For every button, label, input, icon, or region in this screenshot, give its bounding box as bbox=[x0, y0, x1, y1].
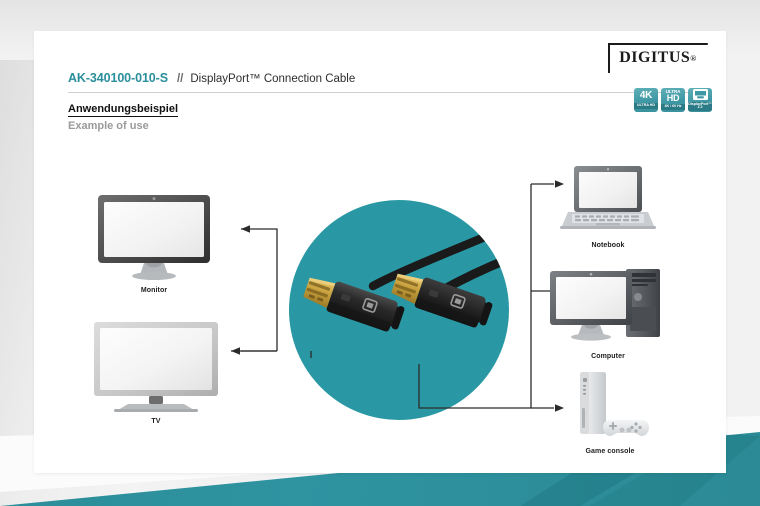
arrow-to-monitor bbox=[241, 229, 277, 351]
device-game-console: Game console bbox=[562, 370, 658, 455]
content-card: DIGITUS® AK-340100-010-S//DisplayPort™ C… bbox=[34, 31, 726, 473]
registered-mark-icon: ® bbox=[690, 54, 696, 63]
section-title-de: Anwendungsbeispiel bbox=[68, 103, 178, 117]
ultra-hd-badge-line2: HD bbox=[667, 94, 679, 103]
displayport-badge-line2: DisplayPort™ 1.2 bbox=[688, 102, 712, 111]
4k-badge-line1: 4K bbox=[640, 91, 652, 101]
desktop-computer-icon bbox=[548, 267, 668, 347]
ultra-hd-badge-line3: 4K / 60 Hz bbox=[661, 104, 685, 110]
arrowhead-monitor bbox=[241, 225, 250, 233]
digitus-logo-text: DIGITUS bbox=[619, 49, 690, 67]
4k-badge: 4K ULTRA HD bbox=[634, 88, 658, 112]
device-tv: TV bbox=[92, 320, 220, 425]
tv-label: TV bbox=[151, 418, 160, 425]
device-monitor: Monitor bbox=[96, 193, 212, 294]
product-sku: AK-340100-010-S bbox=[68, 71, 168, 85]
ultra-hd-badge: ULTRA HD 4K / 60 Hz bbox=[661, 88, 685, 112]
page-root: DIGITUS® AK-340100-010-S//DisplayPort™ C… bbox=[0, 0, 760, 506]
connector-icon bbox=[693, 89, 708, 100]
notebook-icon bbox=[558, 164, 658, 236]
monitor-label: Monitor bbox=[141, 287, 167, 294]
tv-icon bbox=[92, 320, 220, 412]
title-separator: // bbox=[177, 73, 183, 85]
game-console-icon bbox=[562, 370, 658, 442]
product-title-row: AK-340100-010-S//DisplayPort™ Connection… bbox=[68, 69, 692, 93]
device-notebook: Notebook bbox=[558, 164, 658, 249]
arrow-trunk-right bbox=[419, 184, 531, 408]
notebook-label: Notebook bbox=[591, 242, 624, 249]
monitor-icon bbox=[96, 193, 212, 281]
computer-label: Computer bbox=[591, 353, 625, 360]
device-computer: Computer bbox=[548, 267, 668, 360]
4k-badge-line2: ULTRA HD bbox=[634, 103, 658, 109]
feature-badges: 4K ULTRA HD ULTRA HD 4K / 60 Hz DisplayP… bbox=[634, 88, 712, 112]
product-name: DisplayPort™ Connection Cable bbox=[190, 73, 355, 85]
game-console-label: Game console bbox=[585, 448, 634, 455]
displayport-badge: DisplayPort™ 1.2 bbox=[688, 88, 712, 112]
usage-diagram: Monitor bbox=[34, 136, 726, 473]
section-title-en: Example of use bbox=[68, 120, 149, 132]
